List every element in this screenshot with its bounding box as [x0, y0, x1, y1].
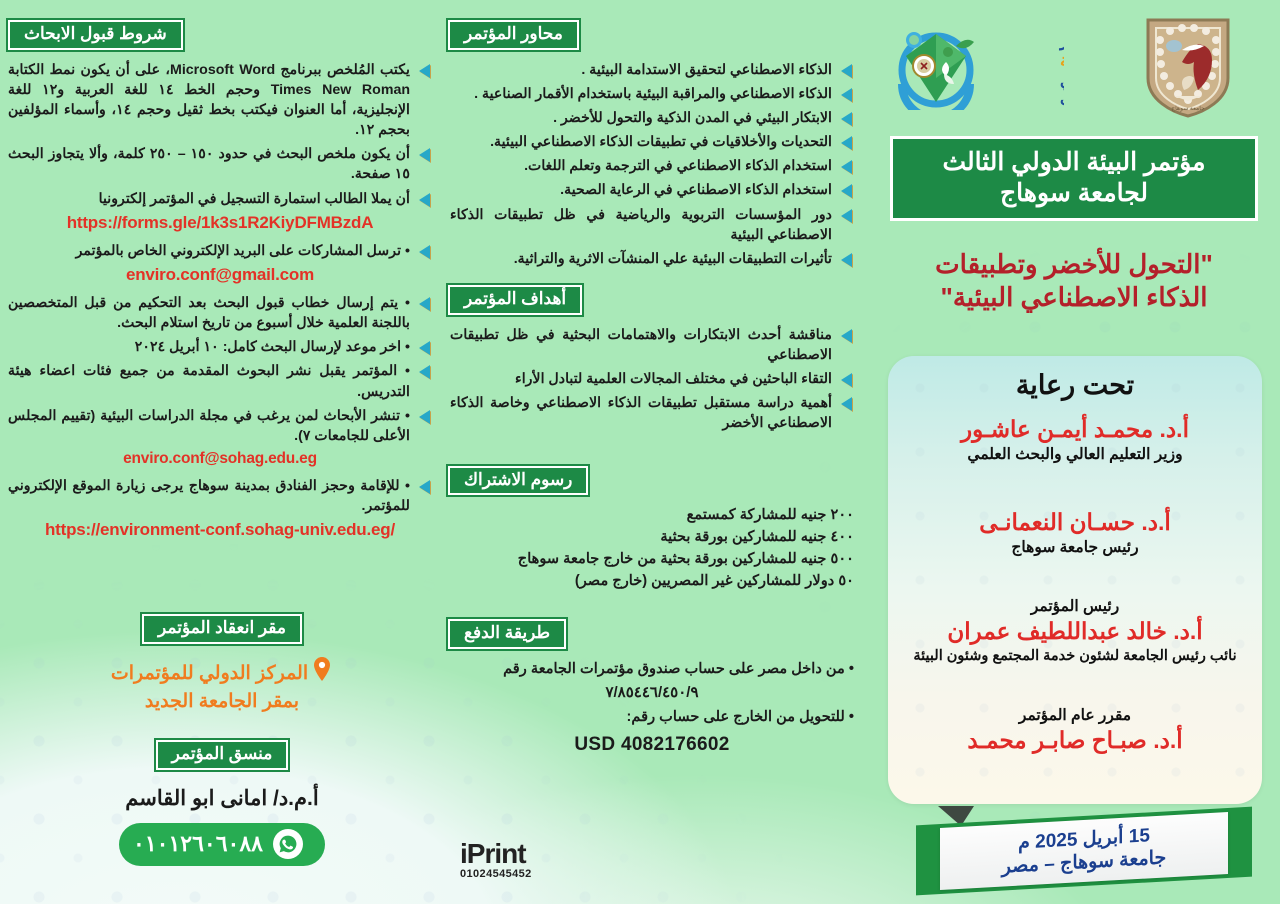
venue-text: المركز الدولي للمؤتمرات بمقر الجامعة الج…	[6, 656, 438, 715]
sponsor-entry: أ.د. حسـان النعمانـى رئيس جامعة سوهاج	[904, 508, 1246, 559]
sponsor-name: أ.د. صبـاح صابـر محمـد	[904, 726, 1246, 756]
list-item: أن يملا الطالب استمارة التسجيل في المؤتم…	[8, 189, 432, 209]
list-item: • المؤتمر يقبل نشر البحوث المقدمة من جمي…	[8, 361, 432, 401]
venue-heading: مقر انعقاد المؤتمر	[140, 612, 304, 646]
sponsor-role: نائب رئيس الجامعة لشئون خدمة المجتمع وشئ…	[904, 647, 1246, 667]
axes-heading: محاور المؤتمر	[446, 18, 581, 52]
conditions-body: يكتب المُلخص ببرنامج Microsoft Word، على…	[6, 60, 438, 541]
sponsor-name: أ.د. خالد عبداللطيف عمران	[904, 617, 1246, 647]
sponsorship-heading: تحت رعاية	[904, 370, 1246, 401]
list-item: ٥٠٠ جنيه للمشاركين بورقة بحثية من خارج ج…	[450, 549, 854, 571]
arrow-bullet-icon	[419, 480, 430, 494]
coordinator-heading-row: منسق المؤتمر	[6, 738, 438, 772]
sponsor-entry: أ.د. محمـد أيمـن عاشـور وزير التعليم الع…	[904, 415, 1246, 466]
list-item: • للتحويل من الخارج على حساب رقم:	[450, 707, 854, 729]
arrow-bullet-icon	[419, 341, 430, 355]
fees-heading-row: رسوم الاشتراك	[446, 464, 858, 498]
conference-title-line2: لجامعة سوهاج	[896, 178, 1252, 209]
svg-text:جامعة سوهاج: جامعة سوهاج	[1171, 105, 1205, 112]
coordinator-name: أ.م.د/ امانى ابو القاسم	[6, 786, 438, 811]
list-item: التقاء الباحثين في مختلف المجالات العلمي…	[450, 369, 854, 389]
logo-row: مؤتمر البيئة الدولي الثالث	[866, 0, 1280, 118]
axes-item-text: الابتكار البيئي في المدن الذكية والتحول …	[553, 110, 832, 126]
axes-item-text: الذكاء الاصطناعي والمراقبة البيئية باستخ…	[474, 86, 832, 102]
fees-body: ٢٠٠ جنيه للمشاركة كمستمع ٤٠٠ جنيه للمشار…	[446, 505, 858, 593]
conditions-list-part1: يكتب المُلخص ببرنامج Microsoft Word، على…	[8, 60, 432, 209]
fees-list: ٢٠٠ جنيه للمشاركة كمستمع ٤٠٠ جنيه للمشار…	[450, 505, 854, 593]
list-item: • يتم إرسال خطاب قبول البحث بعد التحكيم …	[8, 293, 432, 333]
printer-credit: iPrint 01024545452	[460, 840, 532, 880]
list-item: تأثيرات التطبيقات البيئية علي المنشآت ال…	[450, 249, 854, 269]
arrow-bullet-icon	[841, 88, 852, 102]
arrow-bullet-icon	[419, 64, 430, 78]
theme-line2: الذكاء الاصطناعي البيئية"	[876, 281, 1272, 314]
payment-heading-row: طريقة الدفع	[446, 617, 858, 651]
sponsor-entry: مقرر عام المؤتمر أ.د. صبـاح صابـر محمـد	[904, 706, 1246, 756]
objectives-item-text: مناقشة أحدث الابتكارات والاهتمامات البحث…	[450, 327, 832, 363]
conference-website-link[interactable]: https://environment-conf.sohag-univ.edu.…	[8, 520, 432, 540]
conference-title-line1: مؤتمر البيئة الدولي الثالث	[896, 147, 1252, 178]
list-item: استخدام الذكاء الاصطناعي في الترجمة وتعل…	[450, 156, 854, 176]
venue-line1-wrap: المركز الدولي للمؤتمرات	[6, 656, 438, 689]
arrow-bullet-icon	[419, 410, 430, 424]
list-item: مناقشة أحدث الابتكارات والاهتمامات البحث…	[450, 325, 854, 365]
conditions-item-text: • المؤتمر يقبل نشر البحوث المقدمة من جمي…	[8, 363, 410, 399]
conference-title-box: مؤتمر البيئة الدولي الثالث لجامعة سوهاج	[890, 136, 1258, 221]
list-item: أهمية دراسة مستقبل تطبيقات الذكاء الاصطن…	[450, 393, 854, 433]
printer-phone: 01024545452	[460, 868, 532, 880]
conditions-item-text: أن يكون ملخص البحث في حدود ١٥٠ – ٢٥٠ كلم…	[8, 146, 410, 182]
objectives-body: مناقشة أحدث الابتكارات والاهتمامات البحث…	[446, 325, 858, 434]
conditions-item-text: • تنشر الأبحاث لمن يرغب في مجلة الدراسات…	[8, 408, 410, 444]
conference-email-secondary[interactable]: enviro.conf@sohag.edu.eg	[8, 450, 432, 468]
conference-theme: "التحول للأخضر وتطبيقات الذكاء الاصطناعي…	[876, 248, 1272, 314]
arrow-bullet-icon	[841, 373, 852, 387]
location-pin-icon	[311, 656, 333, 689]
list-item: • من داخل مصر على حساب صندوق مؤتمرات الج…	[450, 659, 854, 681]
list-item: ٢٠٠ جنيه للمشاركة كمستمع	[450, 505, 854, 527]
conditions-item-text: • للإقامة وحجز الفنادق بمدينة سوهاج يرجى…	[8, 478, 410, 514]
svg-text:الدولي: الدولي	[1060, 73, 1064, 91]
payment-heading: طريقة الدفع	[446, 617, 568, 651]
arrow-bullet-icon	[841, 329, 852, 343]
conditions-item-text: يكتب المُلخص ببرنامج Microsoft Word، على…	[8, 62, 410, 138]
whatsapp-icon	[273, 829, 303, 859]
arrow-bullet-icon	[841, 397, 852, 411]
list-item: أن يكون ملخص البحث في حدود ١٥٠ – ٢٥٠ كلم…	[8, 144, 432, 184]
arrow-bullet-icon	[419, 365, 430, 379]
list-item: ٧/٨٥٤٤٦/٤٥٠/٩	[450, 682, 854, 705]
list-item: الذكاء الاصطناعي لتحقيق الاستدامة البيئي…	[450, 60, 854, 80]
list-item: الذكاء الاصطناعي والمراقبة البيئية باستخ…	[450, 84, 854, 104]
svg-text:البيئة: البيئة	[1060, 51, 1064, 70]
theme-line1: "التحول للأخضر وتطبيقات	[876, 248, 1272, 281]
objectives-item-text: التقاء الباحثين في مختلف المجالات العلمي…	[515, 371, 832, 387]
payment-body: • من داخل مصر على حساب صندوق مؤتمرات الج…	[446, 659, 858, 760]
branding-column: مؤتمر البيئة الدولي الثالث	[866, 0, 1280, 904]
objectives-heading-row: أهداف المؤتمر	[446, 283, 858, 317]
axes-item-text: دور المؤسسات التربوية والرياضية في ظل تط…	[450, 207, 832, 243]
coordinator-heading: منسق المؤتمر	[154, 738, 291, 772]
printer-name: iPrint	[460, 840, 532, 868]
conditions-list-part3: • يتم إرسال خطاب قبول البحث بعد التحكيم …	[8, 293, 432, 446]
objectives-item-text: أهمية دراسة مستقبل تطبيقات الذكاء الاصطن…	[450, 395, 832, 431]
conference-email-primary[interactable]: enviro.conf@gmail.com	[8, 265, 432, 285]
sponsor-name: أ.د. حسـان النعمانـى	[904, 508, 1246, 538]
arrow-bullet-icon	[841, 160, 852, 174]
axes-item-text: استخدام الذكاء الاصطناعي في الرعاية الصح…	[560, 182, 832, 198]
local-account-number: ٧/٨٥٤٤٦/٤٥٠/٩	[450, 682, 854, 705]
axes-item-text: الذكاء الاصطناعي لتحقيق الاستدامة البيئي…	[581, 62, 832, 78]
venue-line1: المركز الدولي للمؤتمرات	[111, 663, 308, 684]
list-item: • اخر موعد لإرسال البحث كامل: ١٠ أبريل ٢…	[8, 337, 432, 357]
sponsor-role: وزير التعليم العالي والبحث العلمي	[904, 445, 1246, 466]
list-item: ٤٠٠ جنيه للمشاركين بورقة بحثية	[450, 527, 854, 549]
conference-poster: شروط قبول الابحاث يكتب المُلخص ببرنامج M…	[0, 0, 1280, 904]
sponsor-entry: رئيس المؤتمر أ.د. خالد عبداللطيف عمران ن…	[904, 597, 1246, 667]
list-item: • للإقامة وحجز الفنادق بمدينة سوهاج يرجى…	[8, 476, 432, 516]
venue-heading-row: مقر انعقاد المؤتمر	[6, 612, 438, 646]
axes-item-text: استخدام الذكاء الاصطناعي في الترجمة وتعل…	[524, 158, 832, 174]
sponsor-role-top: رئيس المؤتمر	[904, 597, 1246, 617]
sponsor-role-top: مقرر عام المؤتمر	[904, 706, 1246, 726]
conditions-item-text: أن يملا الطالب استمارة التسجيل في المؤتم…	[99, 191, 410, 207]
coordinator-phone-row: ٠١٠١٢٦٠٦٠٨٨	[6, 811, 438, 866]
coordinator-phone-number: ٠١٠١٢٦٠٦٠٨٨	[133, 831, 263, 857]
list-item: الابتكار البيئي في المدن الذكية والتحول …	[450, 108, 854, 128]
whatsapp-phone-pill[interactable]: ٠١٠١٢٦٠٦٠٨٨	[119, 823, 325, 866]
date-location-ribbon: 15 أبريل 2025 م جامعة سوهاج – مصر	[880, 806, 1276, 892]
arrow-bullet-icon	[841, 253, 852, 267]
conditions-item-text: • يتم إرسال خطاب قبول البحث بعد التحكيم …	[8, 295, 410, 331]
conditions-heading-row: شروط قبول الابحاث	[6, 18, 438, 52]
svg-text:مؤتمر: مؤتمر	[1058, 31, 1064, 51]
arrow-bullet-icon	[841, 209, 852, 223]
objectives-heading: أهداف المؤتمر	[446, 283, 584, 317]
list-item: دور المؤسسات التربوية والرياضية في ظل تط…	[450, 205, 854, 245]
list-item: ٥٠ دولار للمشاركين غير المصريين (خارج مص…	[450, 571, 854, 593]
arrow-bullet-icon	[419, 297, 430, 311]
list-item: USD 4082176602	[450, 731, 854, 760]
axes-item-text: تأثيرات التطبيقات البيئية علي المنشآت ال…	[514, 251, 832, 267]
arrow-bullet-icon	[841, 112, 852, 126]
venue-line2: بمقر الجامعة الجديد	[6, 689, 438, 714]
list-item: التحديات والأخلاقيات في تطبيقات الذكاء ا…	[450, 132, 854, 152]
fees-heading: رسوم الاشتراك	[446, 464, 590, 498]
list-item: يكتب المُلخص ببرنامج Microsoft Word، على…	[8, 60, 432, 141]
svg-text:الثالث: الثالث	[1060, 92, 1064, 109]
sponsorship-card: تحت رعاية أ.د. محمـد أيمـن عاشـور وزير ا…	[888, 356, 1262, 804]
conditions-column: شروط قبول الابحاث يكتب المُلخص ببرنامج M…	[6, 18, 438, 540]
sponsorship-content: تحت رعاية أ.د. محمـد أيمـن عاشـور وزير ا…	[888, 356, 1262, 756]
arrow-bullet-icon	[841, 136, 852, 150]
objectives-list: مناقشة أحدث الابتكارات والاهتمامات البحث…	[450, 325, 854, 434]
program-column: محاور المؤتمر الذكاء الاصطناعي لتحقيق ال…	[446, 18, 858, 761]
axes-item-text: التحديات والأخلاقيات في تطبيقات الذكاء ا…	[490, 134, 832, 150]
arrow-bullet-icon	[841, 64, 852, 78]
conference-logo: مؤتمر البيئة الدولي الثالث	[888, 22, 1064, 110]
conditions-item-text: • اخر موعد لإرسال البحث كامل: ١٠ أبريل ٢…	[135, 339, 410, 355]
axes-body: الذكاء الاصطناعي لتحقيق الاستدامة البيئي…	[446, 60, 858, 269]
registration-form-link[interactable]: https://forms.gle/1k3s1R2KiyDFMBzdA	[8, 213, 432, 233]
list-item: • ترسل المشاركات على البريد الإلكتروني ا…	[8, 241, 432, 261]
conditions-item-text: • ترسل المشاركات على البريد الإلكتروني ا…	[76, 243, 410, 259]
arrow-bullet-icon	[419, 148, 430, 162]
list-item: استخدام الذكاء الاصطناعي في الرعاية الصح…	[450, 180, 854, 200]
usd-account-number: USD 4082176602	[450, 731, 854, 760]
sponsor-role: رئيس جامعة سوهاج	[904, 538, 1246, 559]
sohag-university-emblem: جامعة سوهاج	[1140, 14, 1236, 118]
axes-heading-row: محاور المؤتمر	[446, 18, 858, 52]
conditions-list-part4: • للإقامة وحجز الفنادق بمدينة سوهاج يرجى…	[8, 476, 432, 516]
arrow-bullet-icon	[419, 245, 430, 259]
payment-list: • من داخل مصر على حساب صندوق مؤتمرات الج…	[450, 659, 854, 760]
conditions-list-part2: • ترسل المشاركات على البريد الإلكتروني ا…	[8, 241, 432, 261]
conditions-heading: شروط قبول الابحاث	[6, 18, 185, 52]
arrow-bullet-icon	[419, 193, 430, 207]
list-item: • تنشر الأبحاث لمن يرغب في مجلة الدراسات…	[8, 406, 432, 446]
axes-list: الذكاء الاصطناعي لتحقيق الاستدامة البيئي…	[450, 60, 854, 269]
venue-section: مقر انعقاد المؤتمر المركز الدولي للمؤتمر…	[6, 612, 438, 715]
coordinator-section: منسق المؤتمر أ.م.د/ امانى ابو القاسم ٠١٠…	[6, 738, 438, 866]
arrow-bullet-icon	[841, 184, 852, 198]
sponsor-name: أ.د. محمـد أيمـن عاشـور	[904, 415, 1246, 445]
